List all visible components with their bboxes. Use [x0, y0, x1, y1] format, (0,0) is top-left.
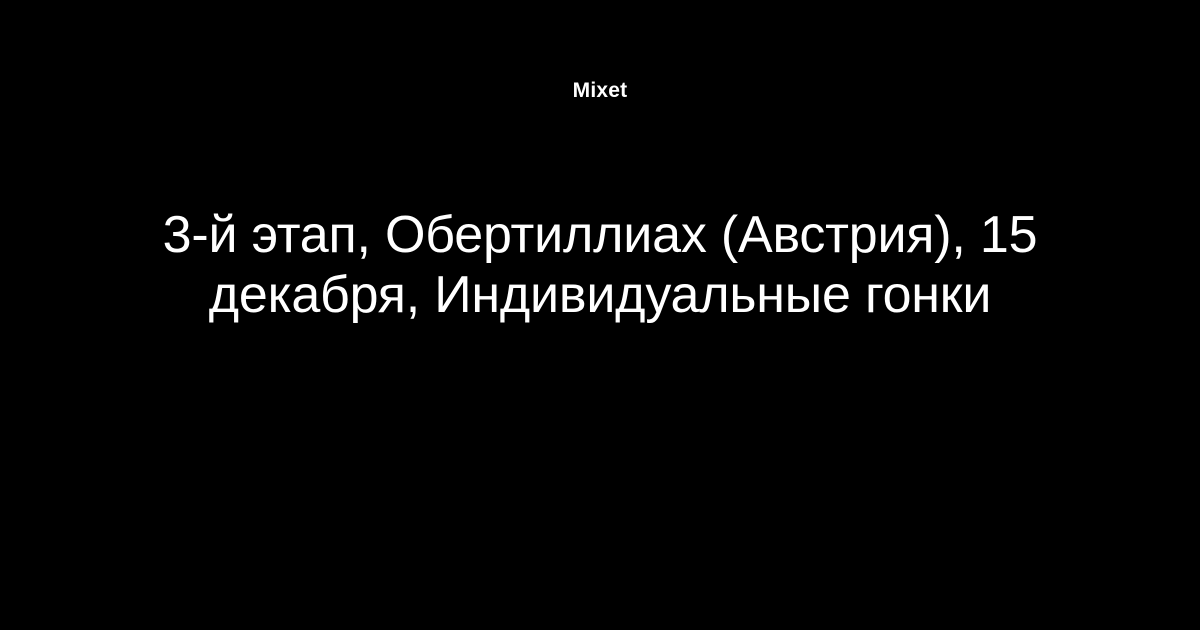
share-card: Mixet 3-й этап, Обертиллиах (Австрия), 1… [0, 0, 1200, 630]
page-title: 3-й этап, Обертиллиах (Австрия), 15 дека… [120, 205, 1080, 325]
title-container: 3-й этап, Обертиллиах (Австрия), 15 дека… [120, 205, 1080, 325]
brand-name: Mixet [0, 78, 1200, 103]
brand-header: Mixet [0, 0, 1200, 185]
